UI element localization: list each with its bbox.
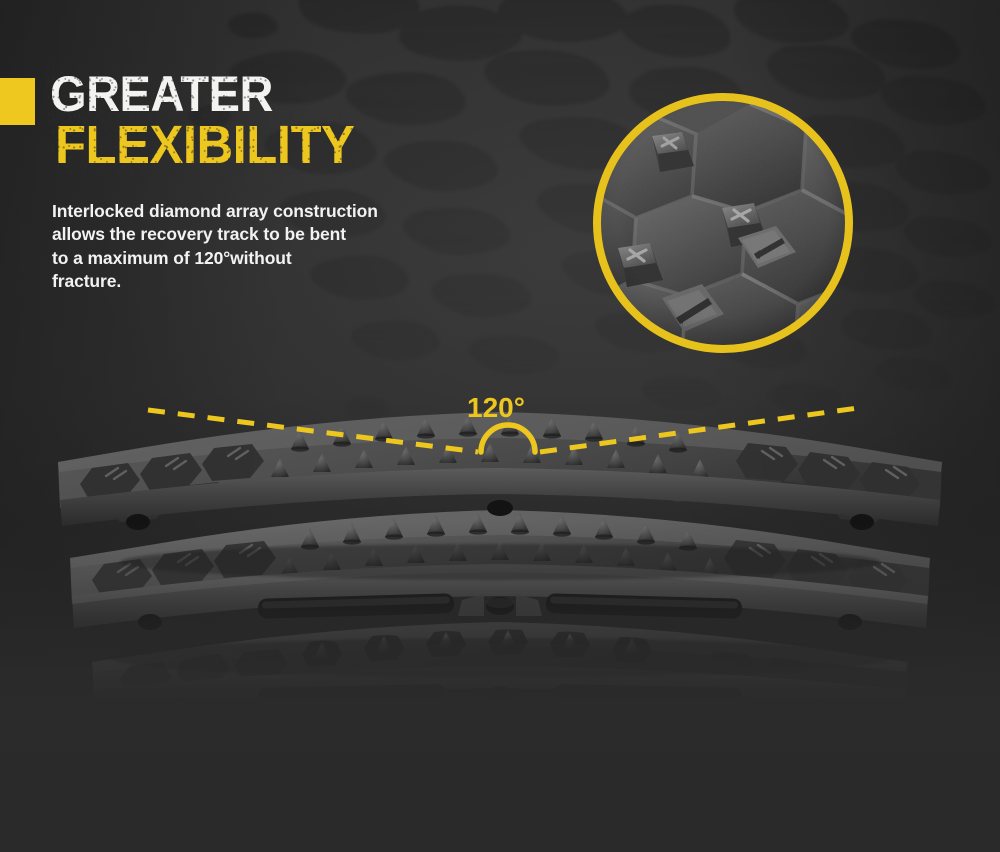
headline-group: GREATER FLEXIBILITY — [50, 70, 570, 172]
headline-line-1: GREATER — [50, 70, 539, 118]
accent-block — [0, 78, 35, 125]
bottom-fade-overlay — [0, 522, 1000, 852]
body-copy-line-3: to a maximum of 120°without — [52, 247, 472, 270]
body-copy-line-4: fracture. — [52, 270, 472, 293]
headline-line-1-text: GREATER — [50, 70, 273, 118]
angle-arc — [481, 425, 535, 452]
body-copy-line-2: allows the recovery track to be bent — [52, 223, 472, 246]
guide-line-left — [148, 410, 478, 452]
angle-value-label: 120° — [467, 392, 525, 424]
headline-line-2: FLEXIBILITY — [55, 120, 539, 172]
diamond-array-tread-photo — [600, 100, 846, 346]
product-feature-banner: 120° GREATER FLEXIBILITY Interlocked dia… — [0, 0, 1000, 852]
tread-closeup-inset — [593, 93, 853, 353]
inset-image-clip — [600, 100, 846, 346]
body-copy-line-1: Interlocked diamond array construction — [52, 200, 472, 223]
angle-annotation — [0, 370, 1000, 480]
body-copy: Interlocked diamond array construction a… — [52, 200, 472, 294]
guide-line-right — [540, 408, 858, 452]
headline-line-2-text: FLEXIBILITY — [55, 120, 354, 172]
